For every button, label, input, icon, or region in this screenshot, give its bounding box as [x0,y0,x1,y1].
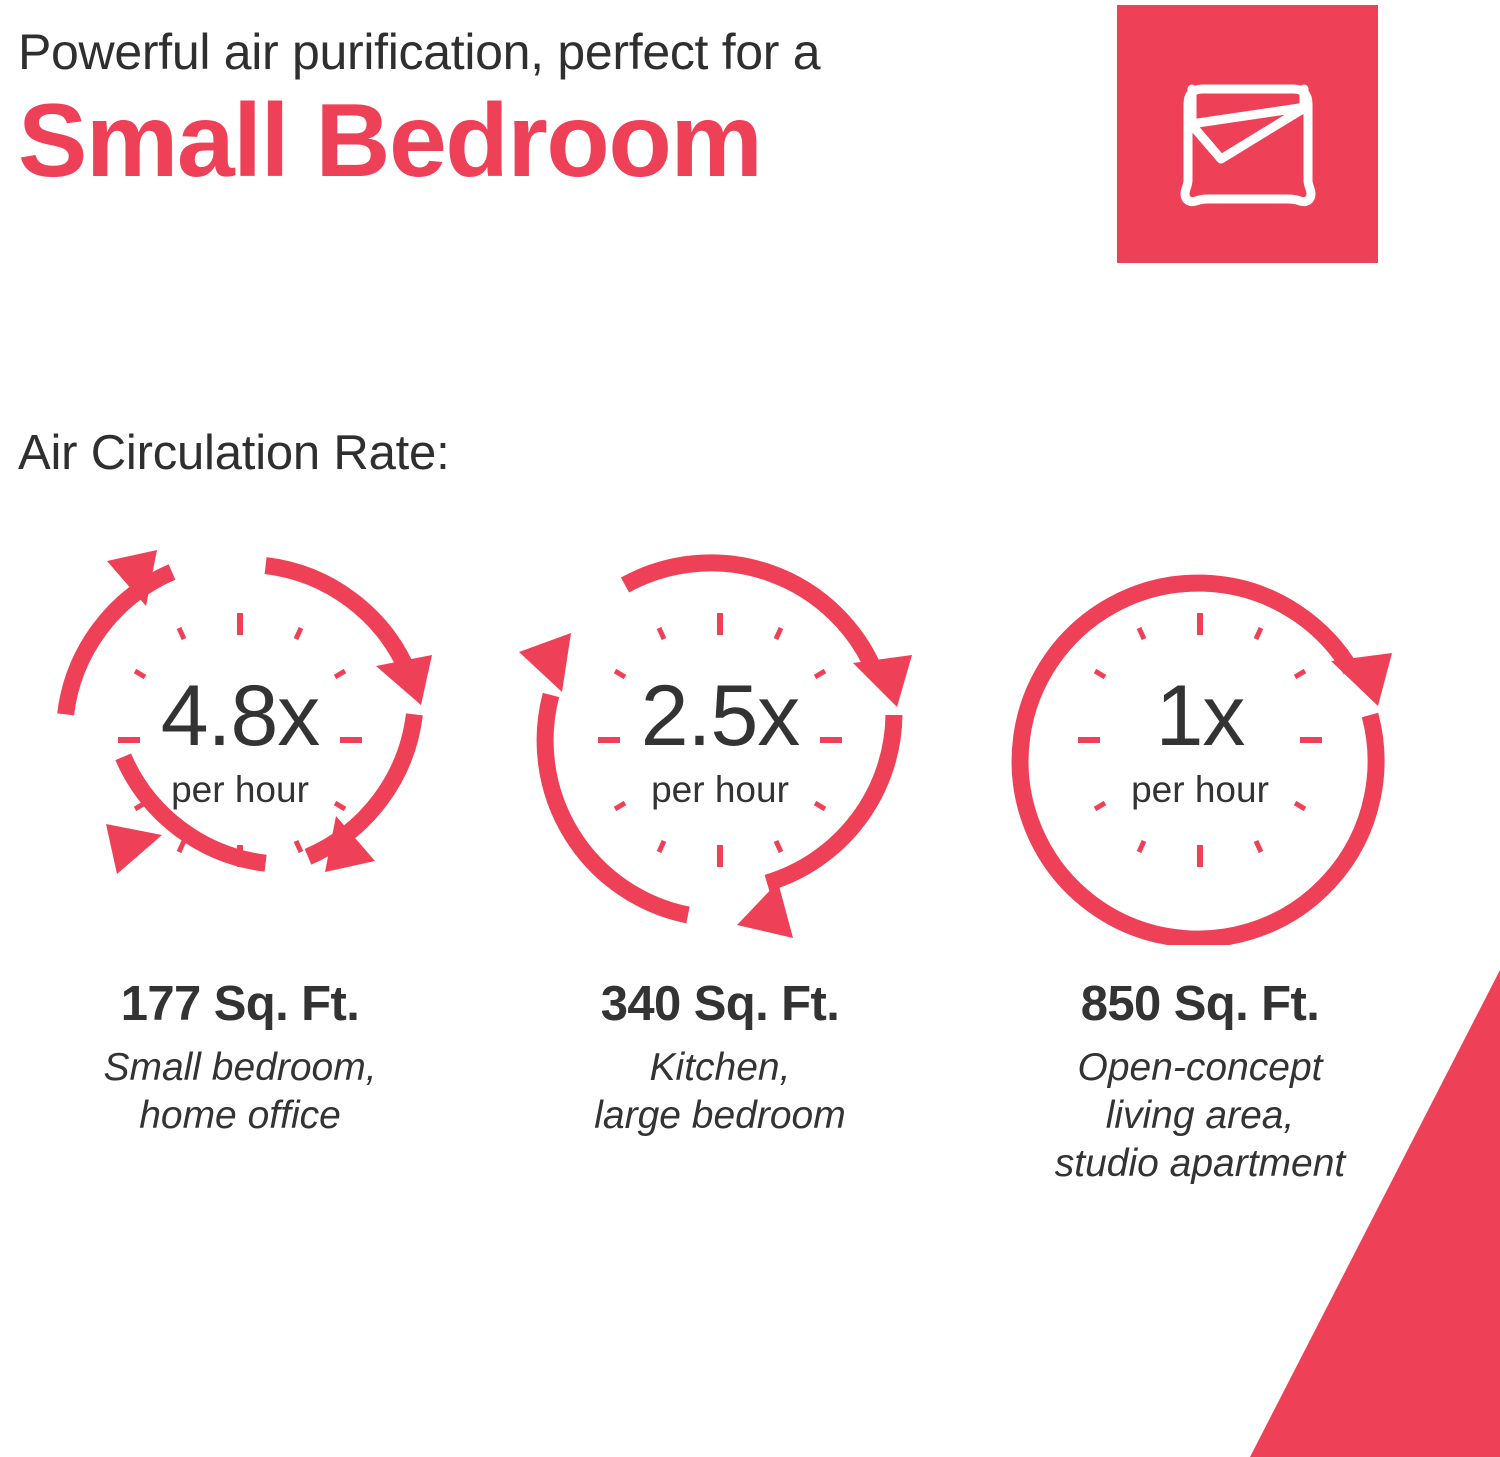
rate-area: 850 Sq. Ft. [1081,979,1319,1030]
circular-arrows-icon [995,535,1405,945]
page-title: Small Bedroom [18,85,1088,197]
circular-arrows-icon [35,535,445,945]
rate-card: 1x per hour 850 Sq. Ft. Open-concept liv… [960,535,1440,1187]
circulation-dial: 1x per hour [995,535,1405,945]
rate-description: Kitchen, large bedroom [594,1044,845,1139]
rate-card: 2.5x per hour 340 Sq. Ft. Kitchen, large… [480,535,960,1187]
circulation-dial: 4.8x per hour [35,535,445,945]
section-title: Air Circulation Rate: [18,425,450,481]
rate-description: Small bedroom, home office [103,1044,376,1139]
header-eyebrow: Powerful air purification, perfect for a [18,26,1088,79]
rate-area: 177 Sq. Ft. [121,979,359,1030]
bed-icon-badge [1117,5,1378,263]
rate-description: Open-concept living area, studio apartme… [1055,1044,1346,1187]
circulation-dial: 2.5x per hour [515,535,925,945]
rate-card: 4.8x per hour 177 Sq. Ft. Small bedroom,… [0,535,480,1187]
bed-icon [1160,48,1336,220]
rate-area: 340 Sq. Ft. [601,979,839,1030]
page-header: Powerful air purification, perfect for a… [18,26,1088,197]
air-circulation-rates: 4.8x per hour 177 Sq. Ft. Small bedroom,… [0,535,1440,1187]
circular-arrows-icon [515,535,925,945]
